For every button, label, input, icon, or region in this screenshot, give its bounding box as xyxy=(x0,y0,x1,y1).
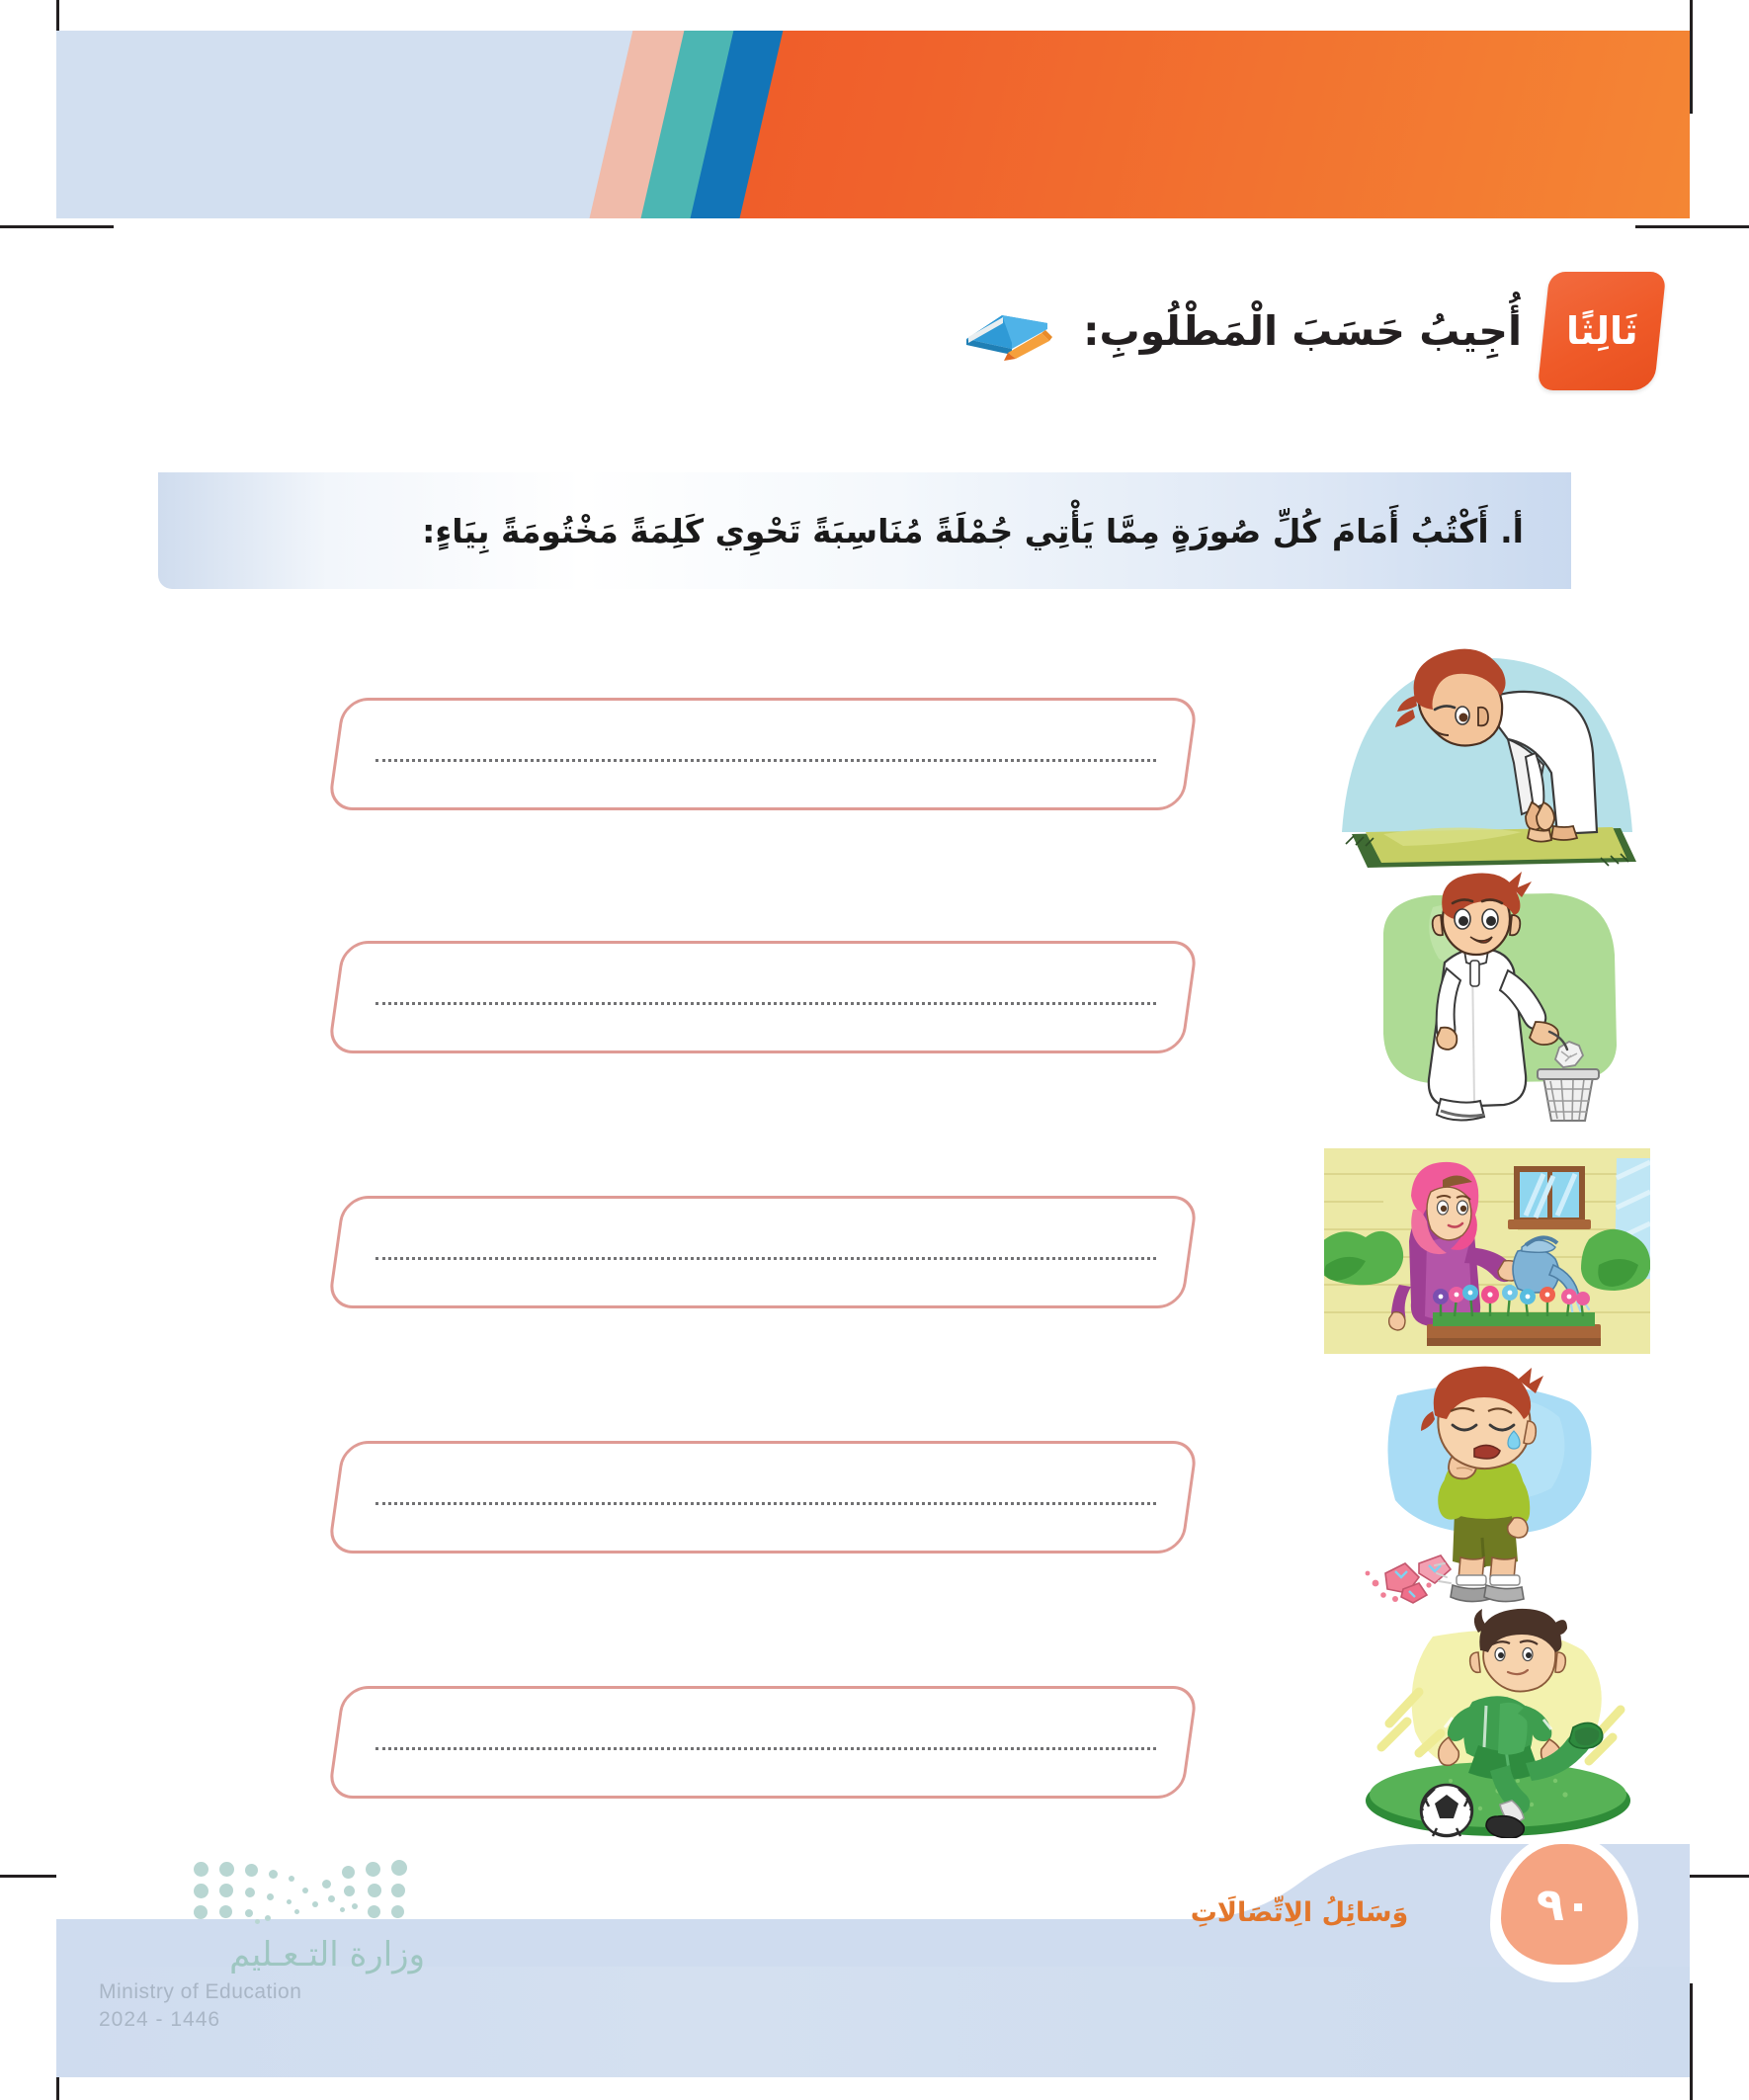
answer-box[interactable] xyxy=(327,941,1199,1053)
section-order-badge: ثَالِثًا xyxy=(1538,272,1667,390)
page-number-badge: ٩٠ xyxy=(1490,1834,1638,1982)
picture-boy-throwing-paper-in-bin xyxy=(1324,868,1650,1123)
book-and-pencil-icon xyxy=(958,301,1053,361)
picture-boy-playing-football xyxy=(1324,1607,1650,1854)
question-row xyxy=(0,882,1749,1131)
answer-box[interactable] xyxy=(327,1441,1199,1554)
lesson-title: وَسَائِلُ الِاتِّصَالَاتِ xyxy=(1141,1897,1457,1928)
question-row xyxy=(0,1131,1749,1380)
answer-box[interactable] xyxy=(327,1686,1199,1799)
ministry-years: 2024 - 1446 xyxy=(99,2008,425,2032)
answer-box[interactable] xyxy=(327,698,1199,810)
ministry-name-english: Ministry of Education xyxy=(99,1980,425,2004)
answer-writing-line[interactable] xyxy=(375,1747,1156,1751)
answer-writing-line[interactable] xyxy=(375,1002,1156,1006)
crop-mark-top-left-horizontal xyxy=(0,225,114,228)
question-row xyxy=(0,1380,1749,1629)
section-order-label: ثَالِثًا xyxy=(1566,309,1638,353)
picture-boy-bowing-in-prayer xyxy=(1324,625,1650,872)
picture-crying-boy-broken-toy xyxy=(1324,1364,1650,1611)
picture-woman-watering-flowers xyxy=(1324,1148,1650,1354)
crop-mark-top-right-vertical xyxy=(1690,0,1693,114)
crop-mark-top-right-horizontal xyxy=(1635,225,1749,228)
question-row xyxy=(0,632,1749,882)
instruction-bar: أ. أَكْتُبُ أَمَامَ كُلِّ صُورَةٍ مِمَّا… xyxy=(158,472,1571,589)
answer-writing-line[interactable] xyxy=(375,1502,1156,1506)
ministry-name-arabic: وزارة التـعـليم xyxy=(99,1935,425,1974)
section-title: أُجِيبُ حَسَبَ الْمَطْلُوبِ: xyxy=(1083,307,1522,355)
banner-stripe-orange xyxy=(733,31,1690,218)
answer-box[interactable] xyxy=(327,1196,1199,1308)
instruction-text: أ. أَكْتُبُ أَمَامَ كُلِّ صُورَةٍ مِمَّا… xyxy=(422,512,1571,550)
banner-stripe-blue xyxy=(56,31,649,218)
section-header: ثَالِثًا أُجِيبُ حَسَبَ الْمَطْلُوبِ: xyxy=(951,272,1660,390)
worksheet-page: ثَالِثًا أُجِيبُ حَسَبَ الْمَطْلُوبِ: أ.… xyxy=(0,0,1749,2100)
ministry-of-education-logo: وزارة التـعـليم Ministry of Education 20… xyxy=(99,1858,425,2032)
moe-logo-dots xyxy=(99,1858,425,1929)
answer-writing-line[interactable] xyxy=(375,1257,1156,1261)
questions-list xyxy=(0,632,1749,1878)
answer-writing-line[interactable] xyxy=(375,759,1156,763)
crop-mark-bottom-right-vertical xyxy=(1690,1983,1693,2100)
top-banner xyxy=(56,31,1690,218)
